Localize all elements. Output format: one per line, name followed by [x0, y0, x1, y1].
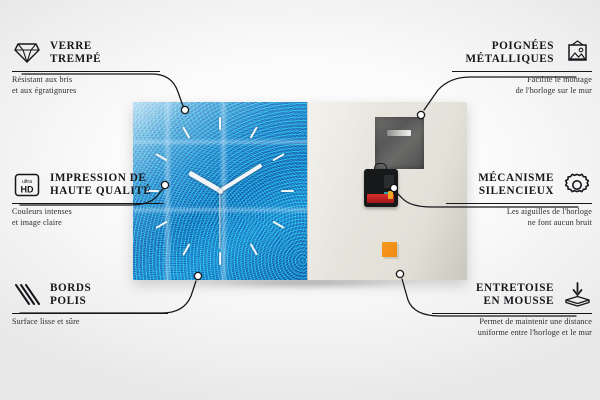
hour-tick — [281, 190, 294, 192]
feature-polished-edges: BORDSPOLIS Surface lisse et sûre — [12, 280, 202, 328]
clock-hand-cap — [218, 189, 223, 194]
feature-header: VERRETREMPÉ — [12, 38, 202, 68]
feature-divider — [446, 203, 592, 204]
feature-subtitle: Résistant aux briset aux égratignures — [12, 75, 202, 96]
feature-header: ENTRETOISEEN MOUSSE — [402, 280, 592, 310]
foam-spacer-icon — [562, 280, 592, 310]
feature-title: MÉCANISMESILENCIEUX — [478, 172, 554, 198]
feature-title: BORDSPOLIS — [50, 282, 91, 308]
feature-title: POIGNÉESMÉTALLIQUES — [465, 40, 554, 66]
ultra-hd-icon: ultra HD — [12, 170, 42, 200]
feature-high-quality-print: ultra HD IMPRESSION DEHAUTE QUALITÉ Coul… — [12, 170, 202, 228]
feature-title: VERRETREMPÉ — [50, 40, 101, 66]
feature-divider — [12, 313, 168, 314]
feature-header: ultra HD IMPRESSION DEHAUTE QUALITÉ — [12, 170, 202, 200]
metal-hanger-plate — [375, 117, 424, 169]
foam-spacer-pad — [382, 242, 397, 257]
picture-frame-icon — [562, 38, 592, 68]
feature-tempered-glass: VERRETREMPÉ Résistant aux briset aux égr… — [12, 38, 202, 96]
battery-positive-terminal — [388, 191, 393, 199]
diamond-icon — [12, 38, 42, 68]
mechanism-hanging-loop — [374, 163, 387, 171]
feature-subtitle: Facilite le montagede l'horloge sur le m… — [402, 75, 592, 96]
feature-subtitle: Les aiguilles de l'horlogene font aucun … — [402, 207, 592, 228]
clock-mechanism — [364, 169, 398, 207]
feature-divider — [432, 313, 592, 314]
battery — [367, 194, 394, 203]
hour-tick — [219, 117, 221, 130]
infographic-canvas: VERRETREMPÉ Résistant aux briset aux égr… — [0, 0, 600, 400]
feature-title: IMPRESSION DEHAUTE QUALITÉ — [50, 172, 151, 198]
feature-header: BORDSPOLIS — [12, 280, 202, 310]
feature-title: ENTRETOISEEN MOUSSE — [476, 282, 554, 308]
feature-header: MÉCANISMESILENCIEUX — [402, 170, 592, 200]
mechanism-housing-detail — [384, 175, 394, 188]
feature-divider — [12, 71, 160, 72]
gear-icon — [562, 170, 592, 200]
feature-divider — [452, 71, 592, 72]
feature-header: POIGNÉESMÉTALLIQUES — [402, 38, 592, 68]
feature-divider — [12, 203, 164, 204]
feature-subtitle: Surface lisse et sûre — [12, 317, 202, 328]
feature-subtitle: Couleurs intenseset image claire — [12, 207, 202, 228]
feature-subtitle: Permet de maintenir une distanceuniforme… — [402, 317, 592, 338]
hour-tick — [219, 252, 221, 265]
feature-foam-spacer: ENTRETOISEEN MOUSSE Permet de maintenir … — [402, 280, 592, 338]
feature-metal-handles: POIGNÉESMÉTALLIQUES Facilite le montaged… — [402, 38, 592, 96]
svg-text:HD: HD — [21, 185, 34, 195]
hanger-slot — [387, 130, 411, 136]
feature-silent-mechanism: MÉCANISMESILENCIEUX Les aiguilles de l'h… — [402, 170, 592, 228]
polished-edges-icon — [12, 280, 42, 310]
